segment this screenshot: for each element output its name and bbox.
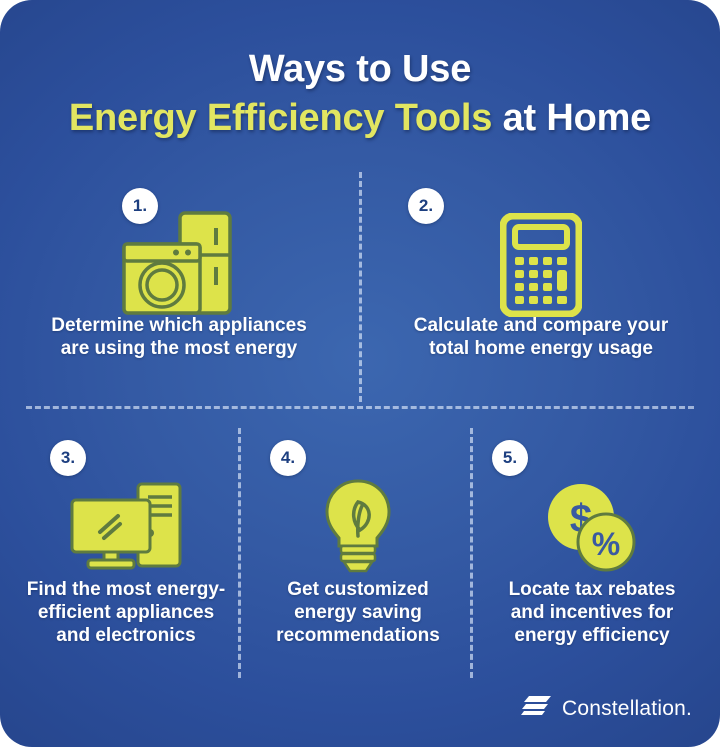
horizontal-divider (26, 406, 694, 409)
vertical-divider-bottom-right (470, 428, 473, 678)
title-line-two: Energy Efficiency Tools at Home (0, 92, 720, 144)
tip-caption-3: Find the most energy-efficient appliance… (26, 578, 226, 647)
tip-card-1: 1. Determine which appliances are using … (14, 178, 344, 398)
tip-card-2: 2. (376, 178, 706, 398)
step-number-badge-3: 3. (50, 440, 86, 476)
tip-caption-5: Locate tax rebates and incentives for en… (490, 578, 694, 647)
title-plain-text: at Home (492, 97, 651, 139)
step-number-badge-4: 4. (270, 440, 306, 476)
desktop-computer-icon (14, 476, 238, 576)
tip-card-5: 5. $ % Locate tax rebates and incentives… (478, 434, 702, 674)
tip-card-4: 4. Get customized energy saving recommen… (246, 434, 470, 674)
page-title: Ways to Use Energy Efficiency Tools at H… (0, 46, 720, 144)
step-number-badge-5: 5. (492, 440, 528, 476)
tip-card-3: 3. Find the most energy-efficient applia… (14, 434, 238, 674)
dollar-percent-coins-icon: $ % (478, 476, 702, 576)
footer-brand: Constellation. (520, 694, 692, 723)
tip-caption-4: Get customized energy saving recommendat… (258, 578, 458, 647)
brand-name: Constellation. (562, 697, 692, 721)
vertical-divider-bottom-left (238, 428, 241, 678)
title-accent-text: Energy Efficiency Tools (69, 97, 492, 139)
constellation-logo-icon (520, 694, 552, 723)
vertical-divider-top (359, 172, 362, 402)
lightbulb-leaf-icon (246, 476, 470, 576)
tip-caption-1: Determine which appliances are using the… (49, 314, 309, 360)
title-line-one: Ways to Use (0, 46, 720, 92)
washing-machine-refrigerator-icon (14, 210, 344, 320)
svg-text:%: % (592, 526, 620, 562)
infographic-canvas: Ways to Use Energy Efficiency Tools at H… (0, 0, 720, 747)
tip-caption-2: Calculate and compare your total home en… (411, 314, 671, 360)
calculator-icon (376, 210, 706, 320)
